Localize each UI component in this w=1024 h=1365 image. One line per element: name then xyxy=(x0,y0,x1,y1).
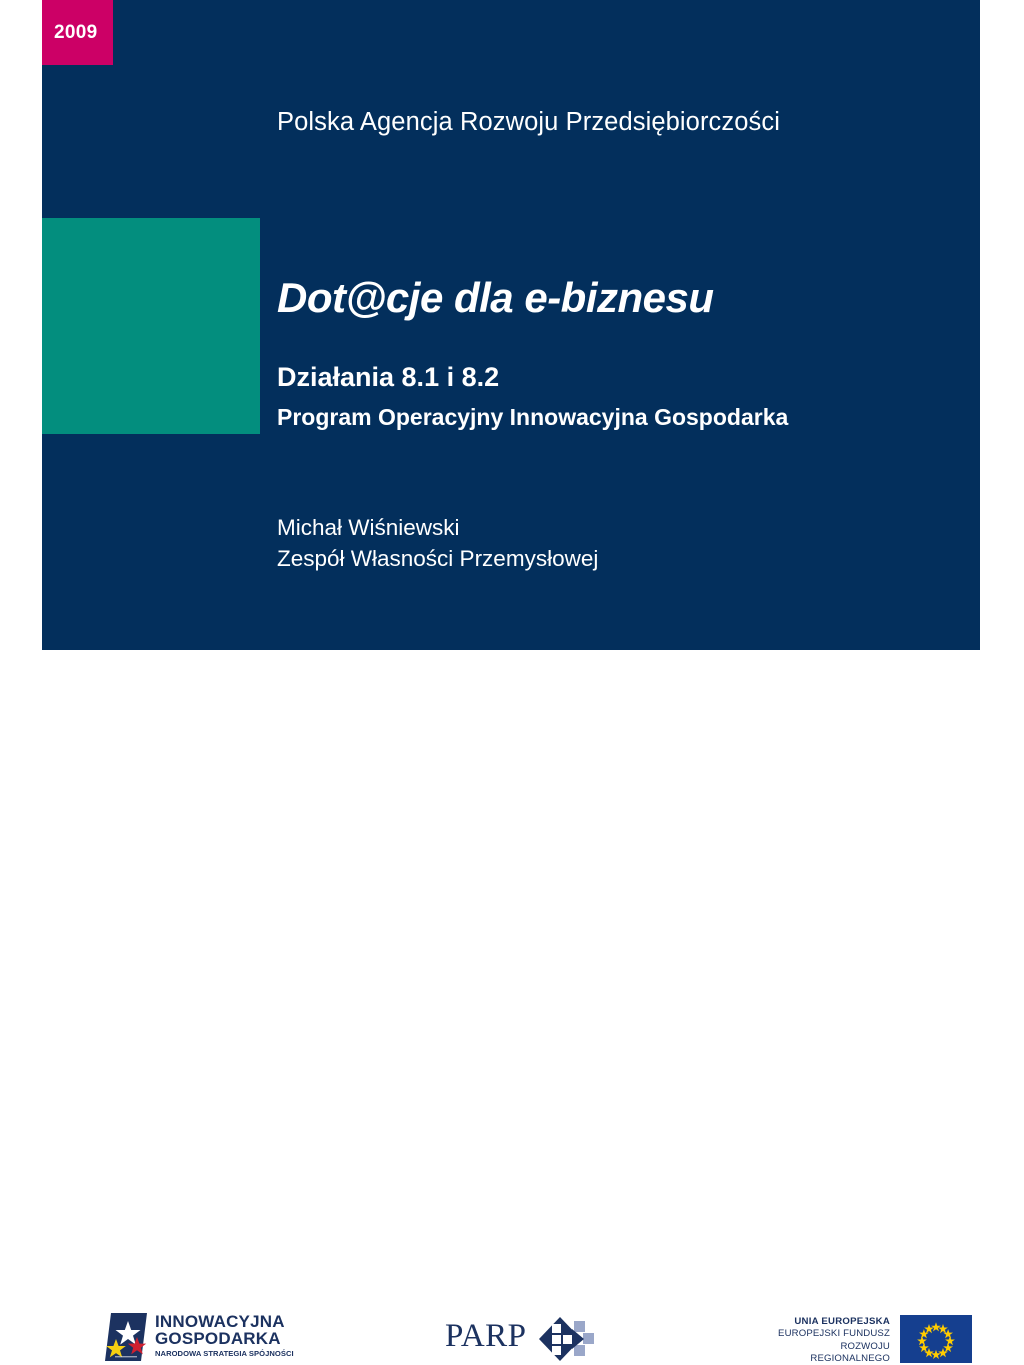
parp-diamond-icon xyxy=(538,1316,596,1362)
grid-cell xyxy=(116,510,186,580)
innowacyjna-gospodarka-icon xyxy=(101,1311,151,1365)
author-department: Zespół Własności Przemysłowej xyxy=(277,546,598,572)
grid-cell xyxy=(42,583,113,650)
grid-cell-accent-teal xyxy=(42,218,260,434)
eu-line-3: ROZWOJU REGIONALNEGO xyxy=(772,1341,890,1365)
organization-name: Polska Agencja Rozwoju Przedsiębiorczośc… xyxy=(277,108,780,137)
unia-europejska-logo: UNIA EUROPEJSKA EUROPEJSKI FUNDUSZ ROZWO… xyxy=(772,1315,987,1363)
grid-cell xyxy=(42,68,113,140)
innowacyjna-gospodarka-wordmark: INNOWACYJNA GOSPODARKA NARODOWA STRATEGI… xyxy=(155,1313,295,1357)
grid-cell-year: 2009 xyxy=(42,0,113,65)
grid-cell xyxy=(189,143,260,215)
slide-footer: INNOWACYJNA GOSPODARKA NARODOWA STRATEGI… xyxy=(0,650,1024,724)
ig-line-2: GOSPODARKA xyxy=(155,1330,295,1347)
subtitle-program: Program Operacyjny Innowacyjna Gospodark… xyxy=(277,404,788,431)
ig-line-3: NARODOWA STRATEGIA SPÓJNOŚCI xyxy=(155,1350,295,1358)
author-name: Michał Wiśniewski xyxy=(277,515,460,541)
presentation-slide: 2009 Polska Agencja Rozwoju Przedsiębior… xyxy=(0,0,1024,724)
grid-cell xyxy=(42,143,113,215)
grid-cell xyxy=(189,437,260,507)
ig-line-1: INNOWACYJNA xyxy=(155,1313,295,1330)
grid-cell xyxy=(42,510,113,580)
grid-cell xyxy=(116,0,186,65)
grid-cell xyxy=(189,583,260,650)
grid-cell xyxy=(116,437,186,507)
parp-logo: PARP xyxy=(445,1314,595,1364)
grid-cell xyxy=(42,437,113,507)
grid-cell xyxy=(189,68,260,140)
grid-cell xyxy=(189,510,260,580)
eu-wordmark: UNIA EUROPEJSKA EUROPEJSKI FUNDUSZ ROZWO… xyxy=(772,1316,890,1365)
page-title: Dot@cje dla e-biznesu xyxy=(277,274,714,322)
eu-line-1: UNIA EUROPEJSKA xyxy=(772,1316,890,1328)
subtitle-measures: Działania 8.1 i 8.2 xyxy=(277,362,499,393)
grid-cell xyxy=(116,143,186,215)
year-label: 2009 xyxy=(54,22,97,44)
parp-wordmark: PARP xyxy=(445,1318,527,1355)
grid-cell xyxy=(116,68,186,140)
eu-flag-icon xyxy=(900,1315,972,1363)
decorative-grid: 2009 xyxy=(42,0,260,650)
slide-text-column: Polska Agencja Rozwoju Przedsiębiorczośc… xyxy=(277,0,977,650)
grid-cell xyxy=(116,583,186,650)
eu-line-2: EUROPEJSKI FUNDUSZ xyxy=(772,1328,890,1340)
grid-cell xyxy=(189,0,260,65)
innowacyjna-gospodarka-logo: INNOWACYJNA GOSPODARKA NARODOWA STRATEGI… xyxy=(101,1311,291,1365)
